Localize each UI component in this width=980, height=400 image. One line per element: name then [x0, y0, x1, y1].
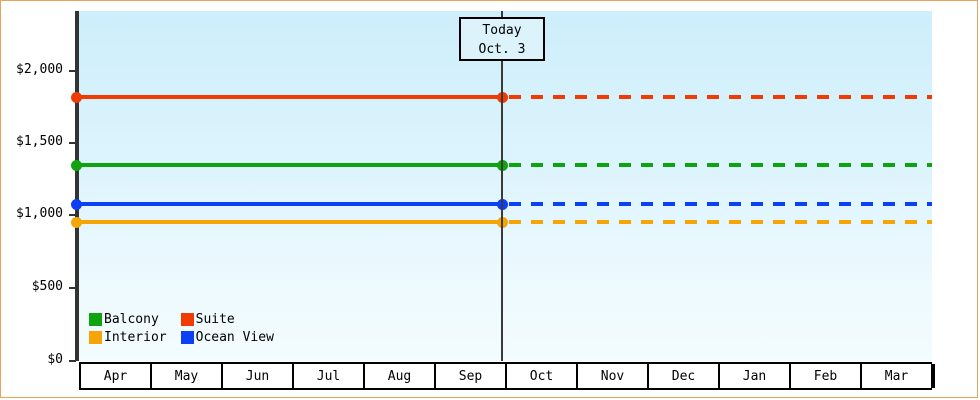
y-label-500: $500 — [32, 280, 63, 293]
legend-item-balcony[interactable]: Balcony — [89, 312, 167, 327]
y-label-1000: $1,000 — [16, 207, 63, 220]
series-line-suite-actual — [77, 95, 503, 99]
y-label-1500: $1,500 — [16, 135, 63, 148]
legend-swatch-suite — [181, 313, 194, 326]
legend-swatch-balcony — [89, 313, 102, 326]
x-axis-cell-aug[interactable]: Aug — [365, 364, 436, 388]
legend-item-interior[interactable]: Interior — [89, 330, 167, 345]
series-line-balcony-actual — [77, 163, 503, 167]
today-label-line1: Today — [461, 21, 543, 40]
x-axis-cell-oct[interactable]: Oct — [507, 364, 578, 388]
legend-label-suite: Suite — [196, 312, 235, 327]
legend-swatch-interior — [89, 331, 102, 344]
legend-item-suite[interactable]: Suite — [181, 312, 274, 327]
x-axis-cell-sep[interactable]: Sep — [436, 364, 507, 388]
series-line-ocean-view-actual — [77, 202, 503, 206]
y-tick-2000 — [69, 70, 76, 72]
y-tick-1000 — [69, 214, 76, 216]
legend-label-balcony: Balcony — [104, 312, 159, 327]
x-axis-cell-overflow — [933, 364, 935, 388]
x-axis-month-bar: Apr May Jun Jul Aug Sep Oct Nov Dec Jan … — [79, 362, 932, 390]
today-vertical-line — [501, 11, 503, 361]
legend-label-ocean-view: Ocean View — [196, 330, 274, 345]
series-line-suite-forecast — [509, 95, 932, 99]
series-line-ocean-view-forecast — [509, 202, 932, 206]
x-axis-cell-may[interactable]: May — [152, 364, 223, 388]
x-axis-cell-jul[interactable]: Jul — [294, 364, 365, 388]
today-annotation-box: Today Oct. 3 — [459, 17, 545, 61]
y-label-0: $0 — [47, 353, 63, 366]
x-axis-cell-jan[interactable]: Jan — [720, 364, 791, 388]
plot-area — [79, 11, 932, 361]
legend-item-ocean-view[interactable]: Ocean View — [181, 330, 274, 345]
x-axis-cell-apr[interactable]: Apr — [81, 364, 152, 388]
series-line-interior-actual — [77, 220, 503, 224]
x-axis-cell-jun[interactable]: Jun — [223, 364, 294, 388]
series-marker-suite-start — [71, 92, 82, 103]
legend-swatch-ocean-view — [181, 331, 194, 344]
chart-legend: Balcony Suite Interior Ocean View — [89, 312, 274, 345]
y-axis-line — [75, 11, 79, 361]
today-label-line2: Oct. 3 — [461, 40, 543, 59]
series-marker-interior-start — [71, 217, 82, 228]
series-marker-ocean-view-start — [71, 199, 82, 210]
x-axis-cell-dec[interactable]: Dec — [649, 364, 720, 388]
y-label-2000: $2,000 — [16, 63, 63, 76]
series-line-balcony-forecast — [509, 163, 932, 167]
y-tick-500 — [69, 287, 76, 289]
series-marker-balcony-start — [71, 160, 82, 171]
chart-frame: $2,000 $1,500 $1,000 $500 $0 Today Oct. … — [0, 0, 978, 398]
legend-label-interior: Interior — [104, 330, 167, 345]
y-tick-1500 — [69, 142, 76, 144]
series-line-interior-forecast — [509, 220, 932, 224]
x-axis-cell-feb[interactable]: Feb — [791, 364, 862, 388]
y-tick-0 — [69, 360, 76, 362]
x-axis-cell-mar[interactable]: Mar — [862, 364, 933, 388]
x-axis-cell-nov[interactable]: Nov — [578, 364, 649, 388]
